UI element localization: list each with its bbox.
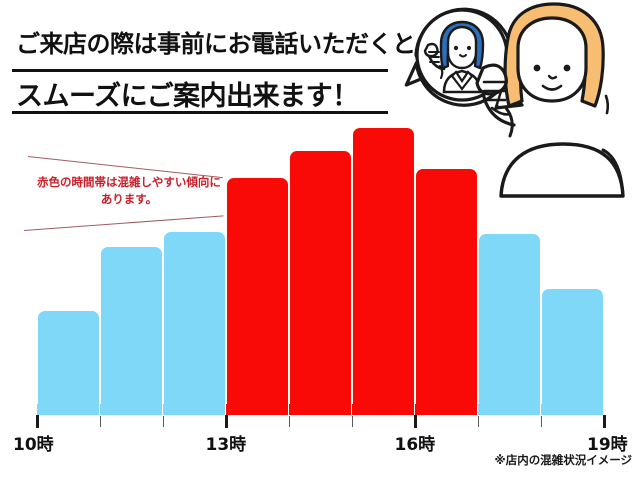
x-axis-segment [289,404,352,415]
staff-eye-right [467,46,471,50]
x-axis-label: 10時 [13,430,54,455]
staff-hand [425,44,438,56]
x-axis-label: 13時 [206,430,247,455]
x-axis-segment [163,404,226,415]
x-axis-segment [37,404,100,415]
chart-footnote: ※店内の混雑状況イメージ [495,452,632,468]
x-axis-tick-minor [100,416,101,427]
x-axis-segment-divider [603,404,604,415]
chart-bar [416,169,477,410]
chart-bar [290,151,351,410]
x-axis-segment [415,404,478,415]
chart-bar [479,234,540,410]
x-axis-tick-major [36,415,39,428]
illustration-woman-on-phone [404,0,640,200]
x-axis-segment [541,404,604,415]
x-axis-tick-minor [541,416,542,427]
x-axis-tick-major [414,415,417,428]
x-axis-tick-minor [289,416,290,427]
infographic-canvas: ご来店の際は事前にお電話いただくと スムーズにご案内出来ます！ 赤色の時間帯は混… [0,0,640,480]
woman-hair-strand [606,96,608,113]
x-axis-tick-minor [352,416,353,427]
chart-bar [38,311,99,410]
x-axis-segment [100,404,163,415]
x-axis-label: 16時 [395,430,436,455]
chart-bar [542,289,603,410]
x-axis-segment [352,404,415,415]
woman-hand [477,65,506,94]
x-axis-tick-major [603,415,606,428]
x-axis-segment [226,404,289,415]
woman-eye-right [564,65,571,72]
x-axis-tick-minor [163,416,164,427]
staff-eye-left [454,46,458,50]
chart-bar [101,247,162,410]
chart-bar [164,232,225,410]
x-axis-color-bar [37,404,604,415]
chart-bar [227,178,288,410]
x-axis-segment [478,404,541,415]
woman-eye-left [534,65,541,72]
x-axis-tick-minor [478,416,479,427]
staff-face [448,27,476,68]
x-axis-tick-major [225,415,228,428]
